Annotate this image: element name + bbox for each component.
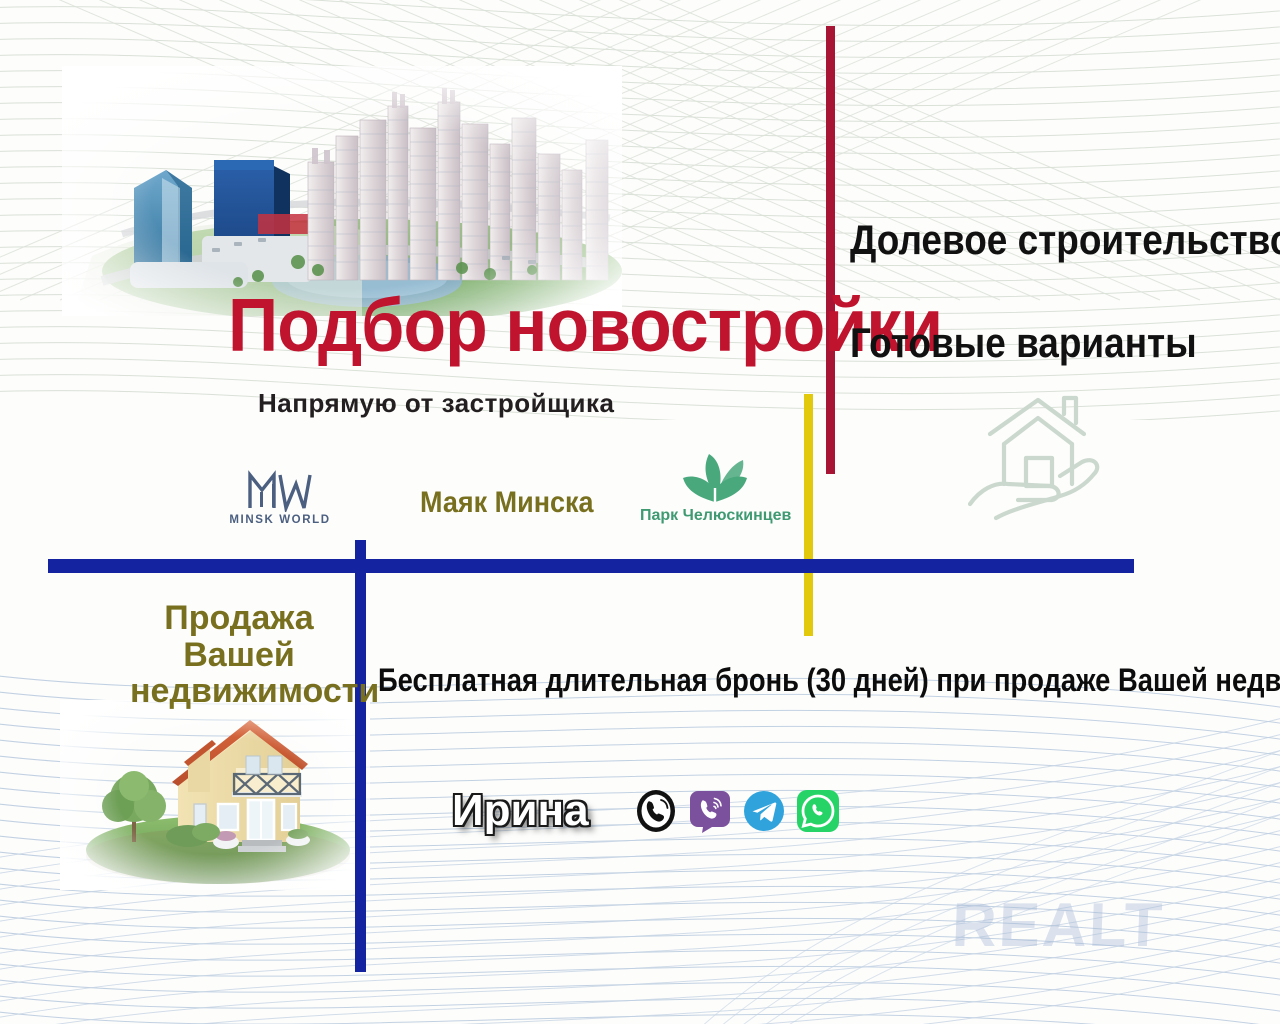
horizontal-divider-blue — [48, 559, 1134, 573]
developer-logo-minsk-world[interactable]: MINSK WORLD — [228, 468, 332, 536]
developer-logo-mayak-minska[interactable]: Маяк Минска — [420, 486, 594, 520]
city-skyline-photo — [62, 66, 622, 316]
telegram-icon[interactable] — [742, 789, 786, 833]
agent-name: Ирина — [452, 786, 589, 836]
sell-property-line-1: Продажа Вашей — [130, 600, 348, 673]
leaf-icon — [675, 452, 755, 506]
contact-icons-row — [634, 789, 840, 833]
vertical-divider-blue — [355, 540, 366, 972]
realt-watermark: REALT — [951, 890, 1166, 961]
offer-ready-options: Готовые варианты — [850, 322, 1197, 364]
developer-name-label: MINSK WORLD — [228, 514, 332, 526]
vertical-divider-crimson — [826, 26, 835, 474]
page-title: Подбор новостройки — [228, 288, 942, 363]
developer-logo-park-chelyuskintsev[interactable]: Парк Челюскинцев — [640, 452, 790, 525]
mw-monogram-icon — [228, 468, 332, 512]
whatsapp-icon[interactable] — [796, 789, 840, 833]
offer-shared-construction: Долевое строительство — [850, 219, 1280, 261]
sell-property-heading: Продажа Вашей недвижимости — [130, 600, 348, 710]
advertisement-poster: Подбор новостройки Напрямую от застройщи… — [0, 0, 1280, 1024]
phone-icon[interactable] — [634, 789, 678, 833]
booking-offer-text: Бесплатная длительная бронь (30 дней) пр… — [378, 662, 1280, 699]
page-subtitle: Напрямую от застройщика — [258, 388, 615, 419]
viber-icon[interactable] — [688, 789, 732, 833]
sell-property-line-2: недвижимости — [130, 673, 348, 710]
house-in-hand-icon — [956, 392, 1116, 542]
developer-name-label: Парк Челюскинцев — [640, 507, 790, 525]
vertical-divider-yellow — [804, 394, 813, 636]
cottage-house-photo — [60, 700, 370, 890]
